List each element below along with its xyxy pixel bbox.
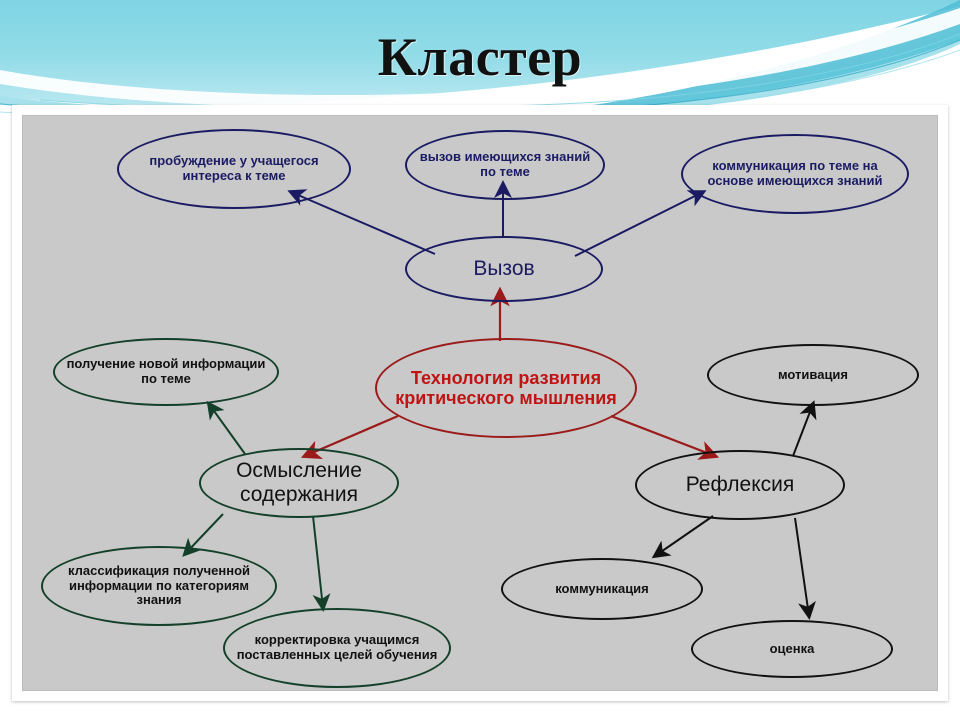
node-label: коммуникация по теме на основе имеющихся… — [691, 159, 899, 188]
node-label: Осмысление содержания — [209, 459, 389, 506]
node-motivaciya[interactable]: мотивация — [707, 344, 919, 406]
edge-center-to-refleksiya — [611, 416, 715, 456]
node-klassifikaciya[interactable]: классификация полученной информации по к… — [41, 546, 277, 626]
node-vyzov-znaniy[interactable]: вызов имеющихся знаний по теме — [405, 130, 605, 200]
node-label: Технология развития критического мышлени… — [385, 368, 627, 408]
edge-osmyslenie-to-poluchenie — [209, 404, 245, 454]
edge-refleksiya-to-kommunikaciya — [655, 516, 713, 556]
edge-vyzov-to-probuzhdenie — [291, 192, 435, 254]
node-label: пробуждение у учащегося интереса к теме — [127, 154, 341, 183]
diagram-canvas: пробуждение у учащегося интереса к теме … — [22, 115, 938, 691]
node-osmyslenie[interactable]: Осмысление содержания — [199, 448, 399, 518]
node-ocenka[interactable]: оценка — [691, 620, 893, 678]
edge-refleksiya-to-motivaciya — [793, 404, 813, 456]
node-label: классификация полученной информации по к… — [51, 564, 267, 608]
node-label: Рефлексия — [645, 473, 835, 497]
node-label: получение новой информации по теме — [63, 357, 269, 386]
node-label: коммуникация — [511, 582, 693, 597]
diagram-frame: пробуждение у учащегося интереса к теме … — [12, 105, 948, 701]
slide: Кластер — [0, 0, 960, 720]
node-korrektirovka[interactable]: корректировка учащимся поставленных целе… — [223, 608, 451, 688]
node-label: оценка — [701, 642, 883, 657]
node-center[interactable]: Технология развития критического мышлени… — [375, 338, 637, 438]
node-vyzov[interactable]: Вызов — [405, 236, 603, 302]
node-refleksiya[interactable]: Рефлексия — [635, 450, 845, 520]
node-label: корректировка учащимся поставленных целе… — [233, 633, 441, 662]
node-label: мотивация — [717, 368, 909, 383]
edge-refleksiya-to-ocenka — [795, 518, 809, 616]
node-kommunikaciya-po-teme[interactable]: коммуникация по теме на основе имеющихся… — [681, 134, 909, 214]
page-title: Кластер — [0, 26, 960, 88]
edge-vyzov-to-kommunikaciya-po-teme — [575, 192, 703, 256]
node-label: вызов имеющихся знаний по теме — [415, 150, 595, 179]
node-poluchenie[interactable]: получение новой информации по теме — [53, 338, 279, 406]
node-label: Вызов — [415, 257, 593, 281]
node-kommunikaciya[interactable]: коммуникация — [501, 558, 703, 620]
node-probuzhdenie[interactable]: пробуждение у учащегося интереса к теме — [117, 129, 351, 209]
edge-osmyslenie-to-korrektirovka — [313, 516, 323, 608]
